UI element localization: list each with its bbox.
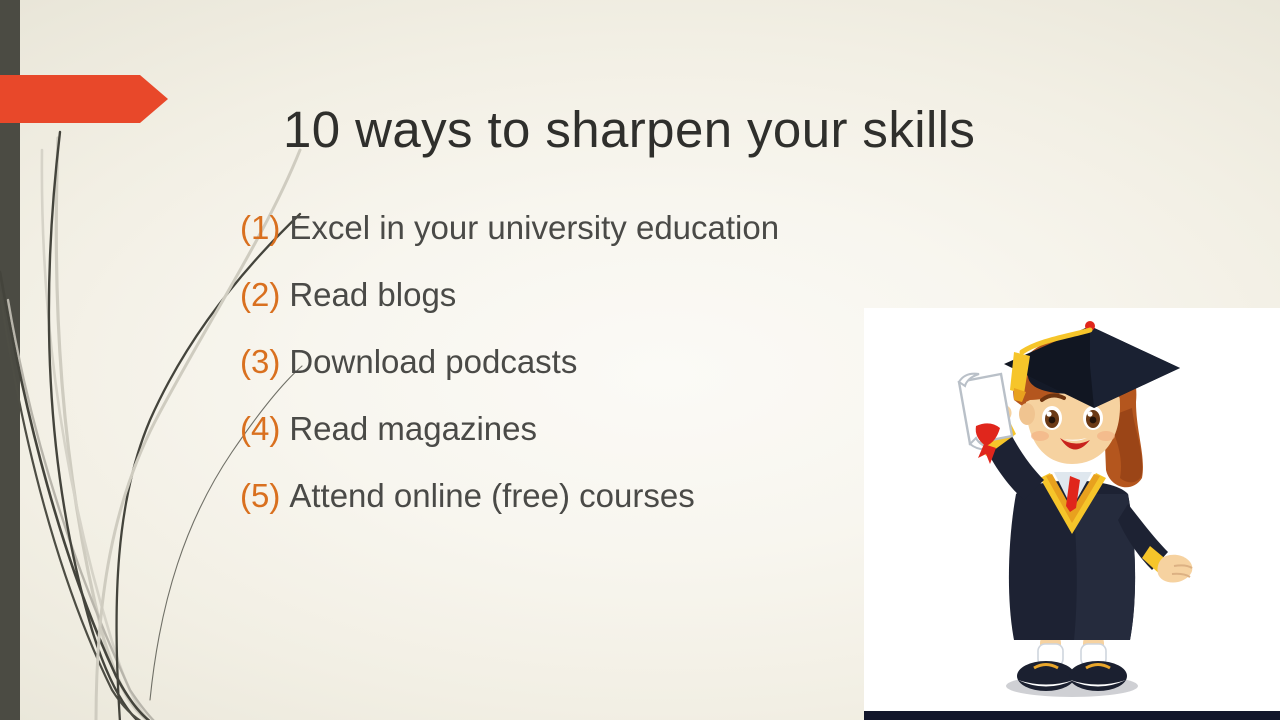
- decor-line-dark-1: [49, 132, 140, 720]
- list-item-number: (4): [240, 410, 280, 447]
- list-item-label: Excel in your university education: [289, 209, 779, 246]
- list-item: (2)Read blogs: [240, 267, 880, 334]
- arrow-shape: [0, 75, 168, 123]
- image-bottom-band: [864, 711, 1280, 720]
- numbered-list: (1)Excel in your university education (2…: [240, 200, 880, 535]
- list-item-label: Read magazines: [289, 410, 537, 447]
- list-item: (5)Attend online (free) courses: [240, 468, 880, 535]
- graduate-girl-illustration: [864, 308, 1280, 720]
- list-item-number: (3): [240, 343, 280, 380]
- slide-title: 10 ways to sharpen your skills: [283, 100, 1143, 160]
- list-item: (4)Read magazines: [240, 401, 880, 468]
- decor-line-light-2: [42, 150, 152, 720]
- decor-line-light-1: [56, 138, 150, 720]
- ear: [1019, 403, 1035, 425]
- decor-line-mid-1: [8, 300, 156, 720]
- blush-left: [1031, 431, 1049, 441]
- list-item-label: Attend online (free) courses: [289, 477, 694, 514]
- blush-right: [1097, 431, 1115, 441]
- graduate-girl-image: [864, 308, 1280, 720]
- list-item: (3)Download podcasts: [240, 334, 880, 401]
- slide: 10 ways to sharpen your skills (1)Excel …: [0, 0, 1280, 720]
- list-item-label: Download podcasts: [289, 343, 577, 380]
- hand-right: [1157, 555, 1192, 583]
- decor-line-dark-3: [0, 292, 146, 720]
- list-item-number: (5): [240, 477, 280, 514]
- decor-line-dark-2: [0, 272, 152, 720]
- list-item-number: (1): [240, 209, 280, 246]
- list-item-number: (2): [240, 276, 280, 313]
- orange-arrow-accent: [0, 75, 168, 123]
- list-item: (1)Excel in your university education: [240, 200, 880, 267]
- list-item-label: Read blogs: [289, 276, 456, 313]
